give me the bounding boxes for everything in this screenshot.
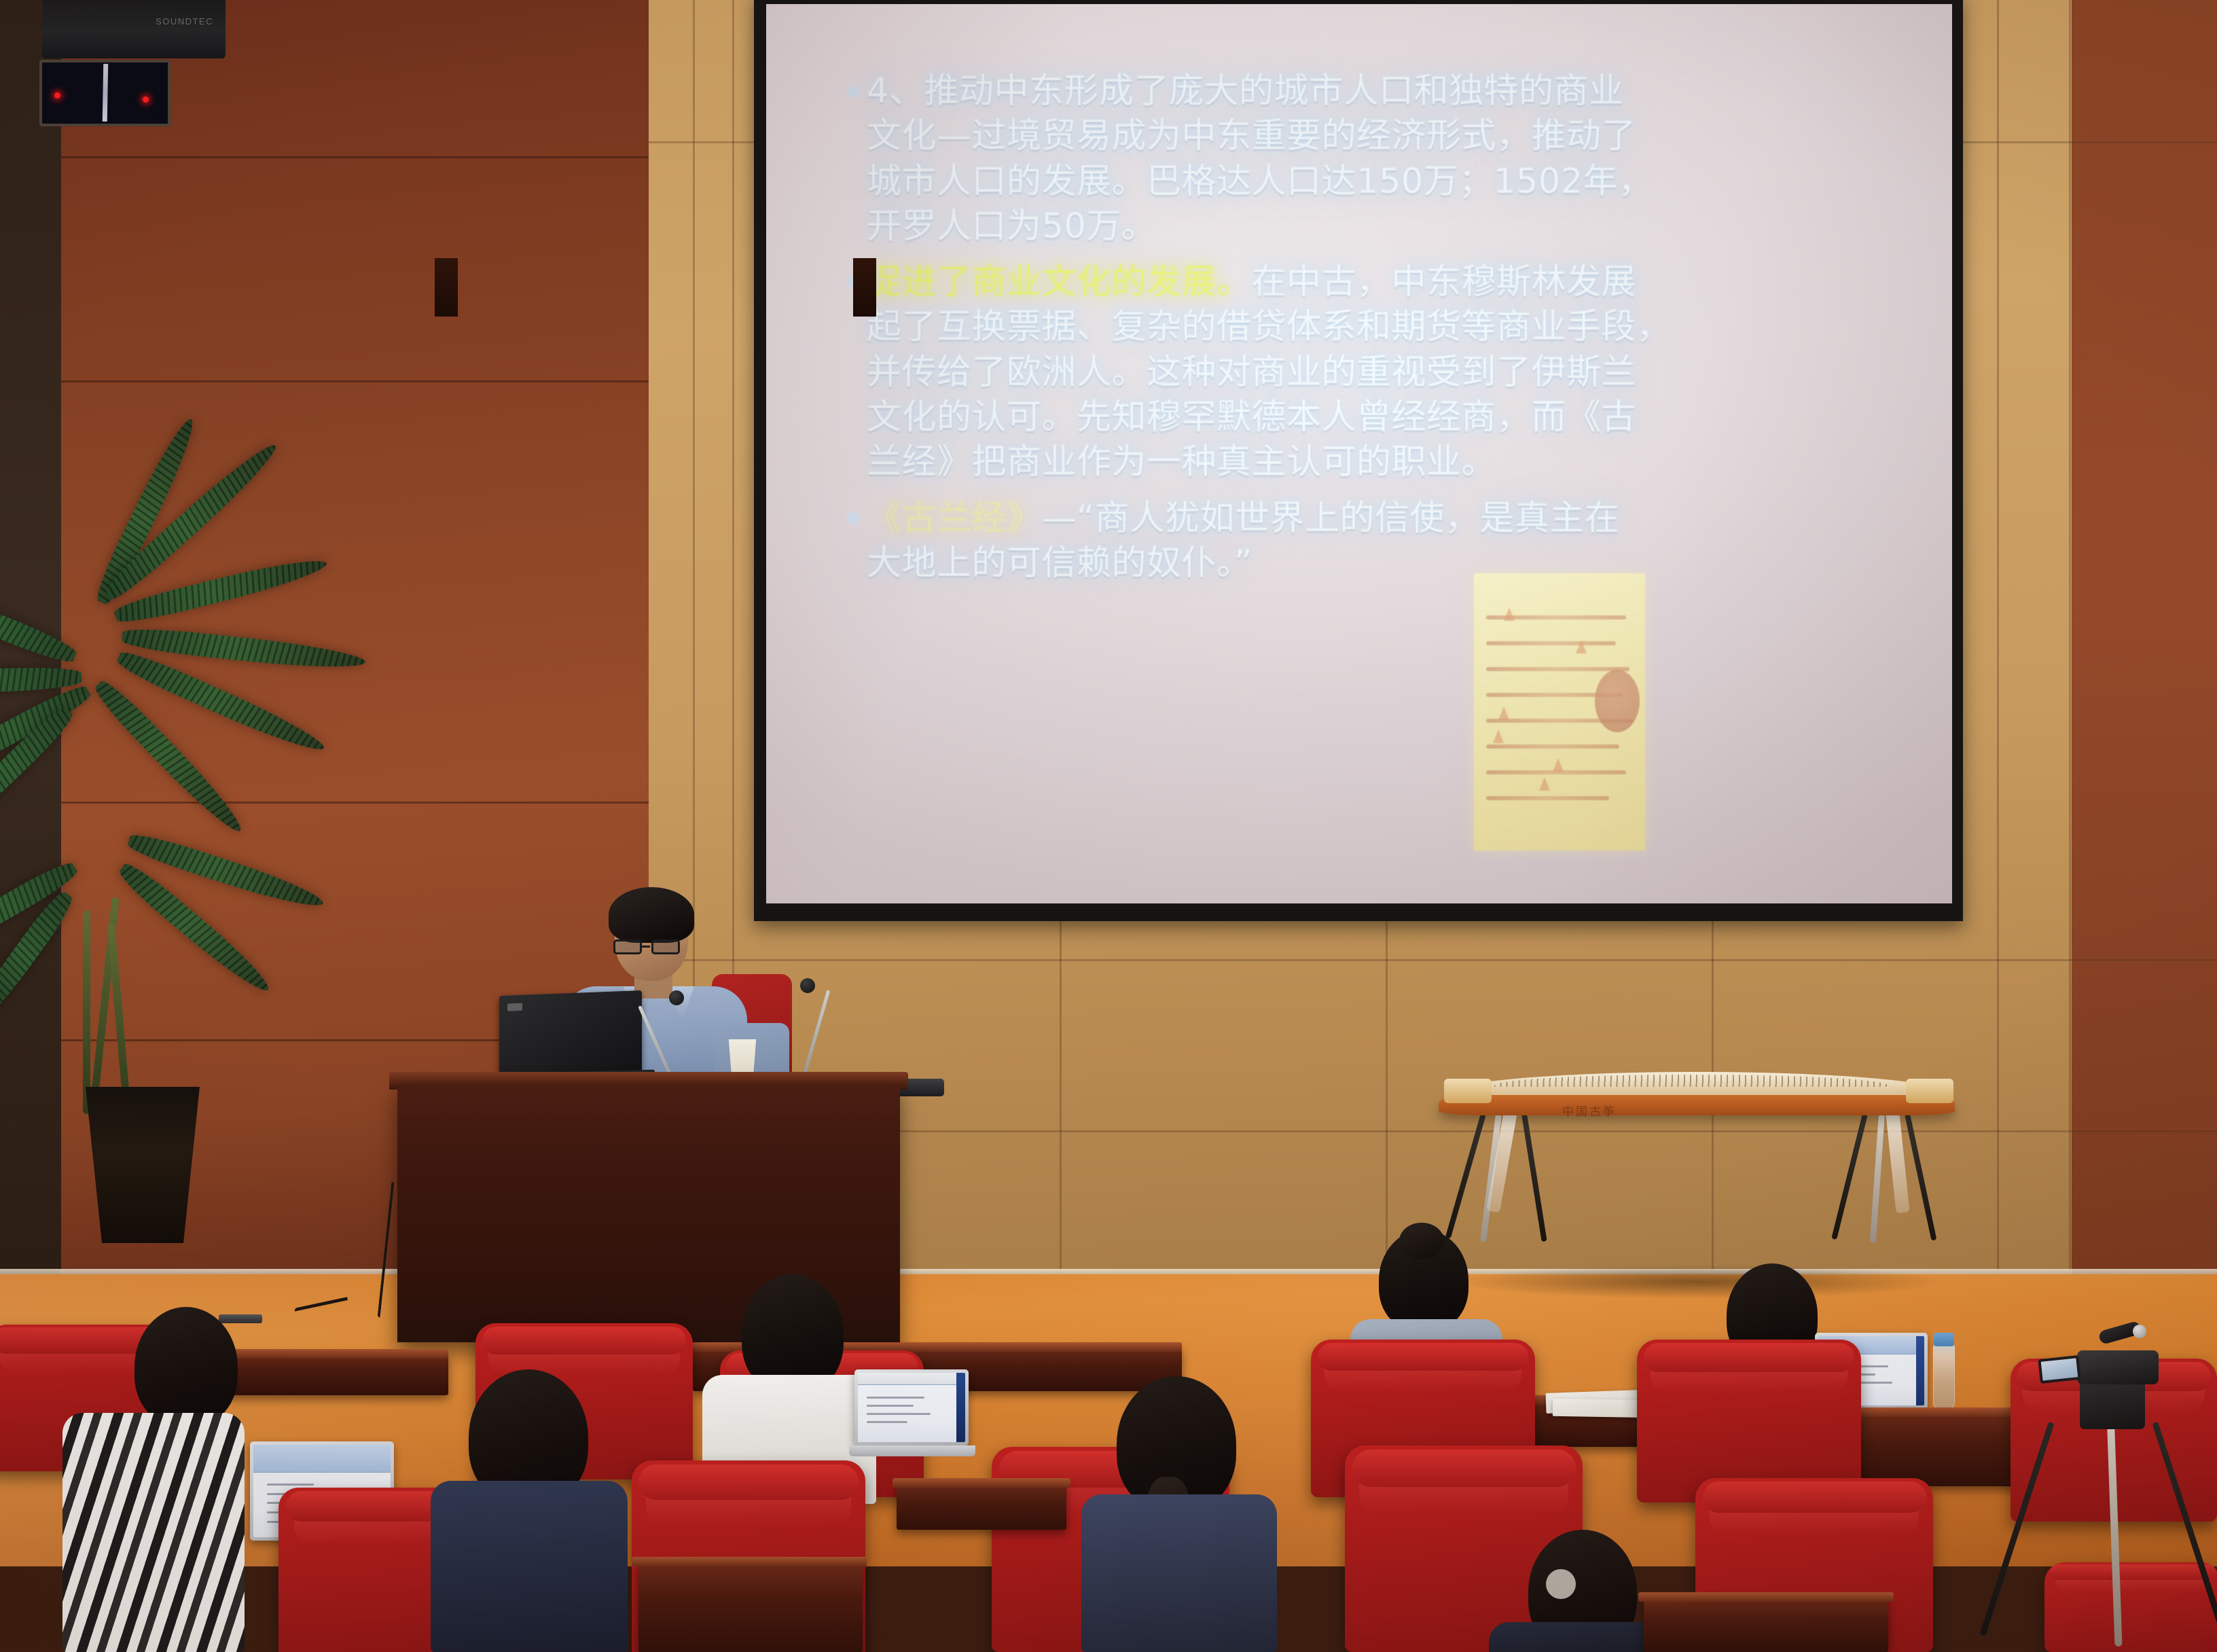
camcorder-mic-tip xyxy=(2133,1325,2146,1338)
slide-line: —“商人犹如世界上的信使，是真主在 xyxy=(1042,499,1620,539)
water-bottle[interactable] xyxy=(1933,1344,1955,1409)
guzheng-bridge-left xyxy=(1444,1079,1492,1103)
floor-cable-clip xyxy=(219,1314,262,1323)
glasses-icon xyxy=(613,939,687,954)
audience-desk xyxy=(638,1562,863,1652)
laptop-screen xyxy=(858,1373,965,1442)
presenter-hair xyxy=(609,887,694,943)
thinkpad-logo-icon xyxy=(507,1003,522,1011)
projection-screen-surface: ◆ 4、推动中东形成了庞大的城市人口和独特的商业 文化—过境贸易成为中东重要的经… xyxy=(766,4,1952,903)
slide-highlight-phrase: 《古兰经》 xyxy=(867,499,1042,539)
bullet-diamond-icon: ◆ xyxy=(846,82,867,99)
audience-desk xyxy=(1644,1598,1888,1652)
wall-seam xyxy=(1997,0,1999,1277)
audience-macbook[interactable] xyxy=(854,1369,969,1445)
audience-torso xyxy=(1081,1494,1277,1652)
slide-bullet-2: ◆ 促进了商业文化的发展。在中古，中东穆斯林发展 起了互换票据、复杂的借贷体系和… xyxy=(846,260,1913,485)
microphone-head-icon xyxy=(669,990,684,1005)
audience-torso-zebra xyxy=(62,1413,245,1652)
slide-line: 大地上的可信赖的奴仆。” xyxy=(867,543,1252,583)
wall-seam xyxy=(649,959,2217,961)
quran-manuscript-image xyxy=(1474,573,1645,850)
wall-right-red-panel xyxy=(2072,0,2217,1277)
speaker-led-indicator xyxy=(54,92,60,98)
slide-bullet-2-text: 促进了商业文化的发展。在中古，中东穆斯林发展 起了互换票据、复杂的借贷体系和期货… xyxy=(867,260,1913,485)
microphone-head-icon xyxy=(800,978,815,993)
slide-line: 文化—过境贸易成为中东重要的经济形式，推动了 xyxy=(867,116,1636,156)
guzheng-shadow xyxy=(1454,1265,1943,1299)
slide-line: 兰经》把商业作为一种真主认可的职业。 xyxy=(867,442,1496,482)
audience-macbook-base xyxy=(849,1445,975,1456)
slide-bullet-1: ◆ 4、推动中东形成了庞大的城市人口和独特的商业 文化—过境贸易成为中东重要的经… xyxy=(846,69,1913,249)
audience-desk-top xyxy=(1638,1592,1894,1602)
tripod-head[interactable] xyxy=(2080,1379,2145,1429)
audience-head xyxy=(134,1307,238,1426)
podium-leg xyxy=(435,258,458,317)
camcorder-body[interactable] xyxy=(2077,1350,2159,1384)
bullet-diamond-icon: ◆ xyxy=(846,509,867,526)
ceiling-speaker: SOUNDTEC xyxy=(42,0,226,58)
slide-bullet-3-text: 《古兰经》—“商人犹如世界上的信使，是真主在 大地上的可信赖的奴仆。” xyxy=(867,497,1913,587)
wall-seam xyxy=(2069,0,2071,1277)
podium-leg xyxy=(853,258,876,317)
slide-highlight-phrase: 促进了商业文化的发展。 xyxy=(867,262,1252,302)
audience-hair-bun xyxy=(1399,1223,1444,1259)
audience-hair-clip xyxy=(1546,1569,1576,1599)
areca-palm-plant xyxy=(0,475,387,1155)
speaker-brand-label: SOUNDTEC xyxy=(156,16,213,26)
camcorder-lcd-screen xyxy=(2038,1355,2080,1384)
slide-content: ◆ 4、推动中东形成了庞大的城市人口和独特的商业 文化—过境贸易成为中东重要的经… xyxy=(846,69,1913,597)
audience-desk-top xyxy=(893,1478,1070,1488)
bottle-cap xyxy=(1934,1333,1954,1346)
speaker-led-indicator xyxy=(143,96,149,103)
audience-torso xyxy=(431,1481,628,1652)
slide-line: 在中古，中东穆斯林发展 xyxy=(1252,262,1637,302)
slide-line: 起了互换票据、复杂的借贷体系和期货等商业手段， xyxy=(867,307,1672,347)
audience-chair[interactable] xyxy=(2044,1562,2217,1652)
projection-screen-frame: ◆ 4、推动中东形成了庞大的城市人口和独特的商业 文化—过境贸易成为中东重要的经… xyxy=(754,0,1963,921)
slide-line: 文化的认可。先知穆罕默德本人曾经经商，而《古 xyxy=(867,397,1636,437)
guzheng-label: 中国古筝 xyxy=(1562,1102,1617,1119)
slide-bullet-3: ◆ 《古兰经》—“商人犹如世界上的信使，是真主在 大地上的可信赖的奴仆。” xyxy=(846,497,1913,587)
lecture-hall-photo: SOUNDTEC ◆ 4、推动中东形成了庞大的城市人口和独特的商业 文化—过境贸… xyxy=(0,0,2217,1652)
audience-desk-top xyxy=(632,1557,867,1566)
guzheng-bridge-right xyxy=(1906,1079,1953,1103)
slide-line: 并传给了欧洲人。这种对商业的重视受到了伊斯兰 xyxy=(867,353,1636,393)
manuscript-medallion xyxy=(1595,670,1640,732)
slide-line: 4、推动中东形成了庞大的城市人口和独特的商业 xyxy=(867,71,1623,111)
audience-desk xyxy=(897,1482,1066,1530)
slide-line: 城市人口的发展。巴格达人口达150万；1502年， xyxy=(867,162,1653,202)
slide-bullet-1-text: 4、推动中东形成了庞大的城市人口和独特的商业 文化—过境贸易成为中东重要的经济形… xyxy=(867,69,1913,249)
slide-line: 开罗人口为50万。 xyxy=(867,206,1156,247)
speaker-grille-icon xyxy=(39,60,170,126)
